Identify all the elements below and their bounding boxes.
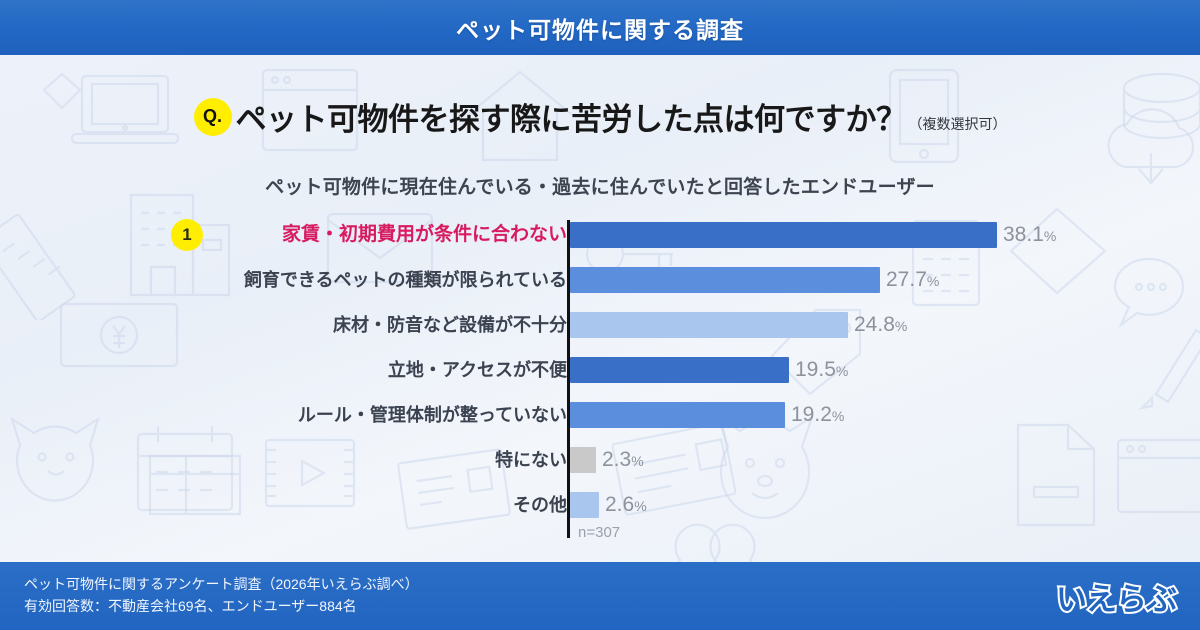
infographic-page: ペット可物件に関する調査 Q. ペット可物件を探す際に苦労した点は何ですか？ （… <box>0 0 1200 630</box>
chart-row-5: ルール・管理体制が整っていない 19.2% <box>0 398 1200 432</box>
chart-row-4: 立地・アクセスが不便 19.5% <box>0 353 1200 387</box>
chart-bar-6 <box>570 447 596 473</box>
chart-value-6: 2.3% <box>602 443 644 478</box>
bar-chart: 1 家賃・初期費用が条件に合わない 38.1% 飼育できるペットの種類が限られて… <box>0 218 1200 538</box>
ielove-logo: いえらぶ <box>1056 574 1176 619</box>
chart-bar-1 <box>570 222 997 248</box>
chart-bar-5 <box>570 402 785 428</box>
chart-bar-2 <box>570 267 880 293</box>
footer-bar: ペット可物件に関するアンケート調査（2026年いえらぶ調べ） 有効回答数：不動産… <box>0 562 1200 630</box>
chart-value-4: 19.5% <box>795 353 848 388</box>
question-text: ペット可物件を探す際に苦労した点は何ですか？ <box>236 94 907 139</box>
footer-line-1: ペット可物件に関するアンケート調査（2026年いえらぶ調べ） <box>24 574 419 596</box>
chart-row-6: 特にない 2.3% <box>0 443 1200 477</box>
chart-row-3: 床材・防音など設備が不十分 24.8% <box>0 308 1200 342</box>
chart-label-7: その他 <box>513 488 567 522</box>
chart-row-2: 飼育できるペットの種類が限られている 27.7% <box>0 263 1200 297</box>
chart-value-7: 2.6% <box>605 488 647 523</box>
chart-value-3: 24.8% <box>854 308 907 343</box>
question-note: （複数選択可） <box>909 114 1007 139</box>
page-title: ペット可物件に関する調査 <box>456 11 744 45</box>
chart-value-2: 27.7% <box>886 263 939 298</box>
footer-line-2: 有効回答数：不動産会社69名、エンドユーザー884名 <box>24 596 419 618</box>
chart-label-6: 特にない <box>495 443 567 477</box>
chart-label-5: ルール・管理体制が整っていない <box>298 398 567 432</box>
question-row: Q. ペット可物件を探す際に苦労した点は何ですか？ （複数選択可） <box>0 94 1200 139</box>
chart-label-2: 飼育できるペットの種類が限られている <box>244 263 567 297</box>
chart-subtitle: ペット可物件に現在住んでいる・過去に住んでいたと回答したエンドユーザー <box>0 172 1200 199</box>
chart-label-4: 立地・アクセスが不便 <box>388 353 567 387</box>
chart-value-1: 38.1% <box>1003 218 1056 253</box>
chart-label-1: 家賃・初期費用が条件に合わない <box>282 218 567 252</box>
chart-row-7: その他 2.6% <box>0 488 1200 522</box>
sample-size-note: n=307 <box>578 524 620 541</box>
chart-bar-7 <box>570 492 599 518</box>
chart-row-1: 1 家賃・初期費用が条件に合わない 38.1% <box>0 218 1200 252</box>
chart-bar-4 <box>570 357 789 383</box>
chart-value-5: 19.2% <box>791 398 844 433</box>
footer-text-block: ペット可物件に関するアンケート調査（2026年いえらぶ調べ） 有効回答数：不動産… <box>24 574 419 617</box>
header-bar: ペット可物件に関する調査 <box>0 0 1200 55</box>
chart-bar-3 <box>570 312 848 338</box>
question-badge: Q. <box>194 98 232 136</box>
chart-label-3: 床材・防音など設備が不十分 <box>333 308 567 342</box>
rank-badge-1: 1 <box>171 219 203 251</box>
